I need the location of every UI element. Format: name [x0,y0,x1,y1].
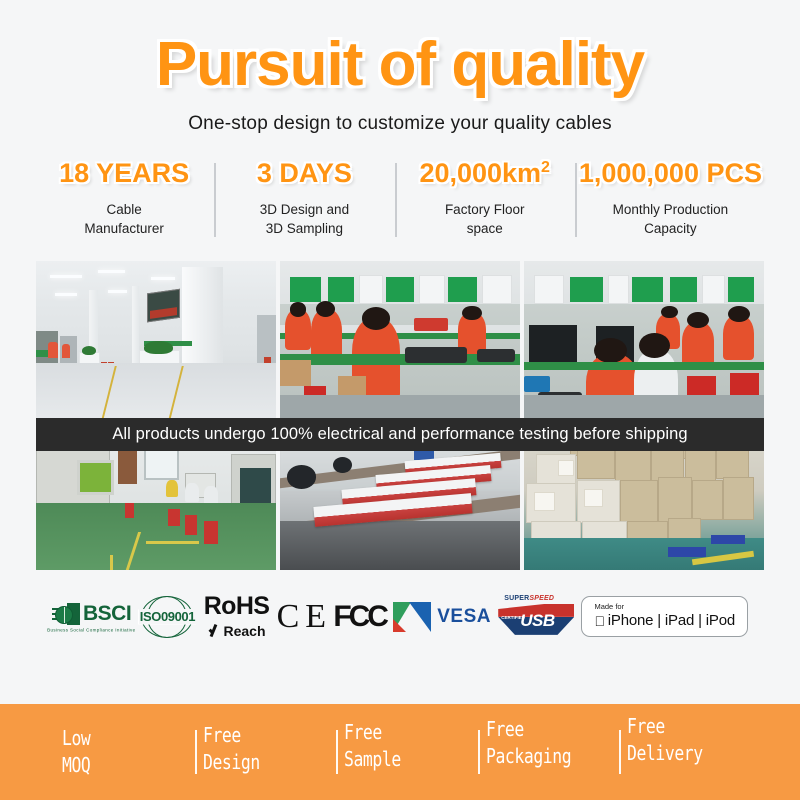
certifications-row: BSCI Business Social Compliance Initiati… [36,586,764,648]
benefit-item-free-delivery: Free Delivery [627,713,754,791]
cert-vesa: VESA [393,602,491,632]
promo-banner-page: Pursuit of quality One-stop design to cu… [0,0,800,800]
assembly-line-workers-right-photo [524,261,764,421]
cert-usb: SUPERSPEED CERTIFIED USB [498,595,574,639]
cert-bsci: BSCI Business Social Compliance Initiati… [52,602,131,632]
benefit-item-free-packaging: Free Packaging [486,716,613,788]
stat-description: Cable Manufacturer [38,200,210,239]
benefit-label: Free Packaging [486,716,571,770]
stat-item-years: 18 YEARS Cable Manufacturer [34,159,214,239]
bsci-label: BSCI [83,602,131,626]
photo-row-top [36,261,764,421]
cert-rohs: RoHS Reach [204,594,270,639]
benefit-item-free-design: Free Design [203,722,330,782]
assembly-line-workers-left-photo [280,261,520,421]
cert-made-for-apple: Made for  iPhone | iPad | iPod [581,596,748,637]
benefit-label: Free Design [203,722,260,776]
photo-gallery: All products undergo 100% electrical and… [36,261,764,570]
rohs-sublabel: Reach [224,624,266,638]
stats-row: 18 YEARS Cable Manufacturer 3 DAYS 3D De… [0,159,800,239]
stat-description: Factory Floor space [399,200,571,239]
bsci-globe-icon [52,603,80,625]
usb-label: USB [520,611,554,631]
testing-banner: All products undergo 100% electrical and… [36,418,764,451]
rohs-label: RoHS [204,594,270,619]
cert-fcc: FCC [333,600,386,634]
mfi-devices-label: iPhone | iPad | iPod [608,613,735,630]
stat-superscript: 2 [541,159,550,176]
vesa-label: VESA [437,606,491,628]
benefit-divider [478,730,480,774]
iso-globe-icon: ISO09001 [138,596,196,638]
checkmark-icon [208,623,222,639]
testing-banner-text: All products undergo 100% electrical and… [112,425,687,444]
benefit-divider [195,730,197,774]
stat-item-floor-space: 20,000km2 Factory Floor space [395,159,575,239]
mfi-top-label: Made for [594,603,735,611]
benefit-divider [336,730,338,774]
ce-mark-icon: CE [277,600,326,634]
stat-description: 3D Design and 3D Sampling [218,200,390,239]
stat-value: 1,000,000 PCS [579,159,762,189]
page-title: Pursuit of quality [0,34,800,96]
cert-ce: CE [277,600,326,634]
benefit-label: Free Sample [344,719,401,773]
benefit-divider [619,730,621,774]
fcc-label: FCC [333,600,386,634]
stat-value: 18 YEARS [38,159,210,189]
stat-description: Monthly Production Capacity [579,200,762,239]
bsci-sublabel: Business Social Compliance Initiative [47,627,135,632]
benefit-label: Low MOQ [62,725,90,779]
benefit-item-low-moq: Low MOQ [62,725,189,779]
stat-item-capacity: 1,000,000 PCS Monthly Production Capacit… [575,159,766,239]
factory-floor-overview-photo [36,261,276,421]
iso-label: ISO09001 [139,609,196,624]
cert-iso9001: ISO09001 [138,596,196,638]
stat-value: 20,000km2 [399,159,571,189]
stat-value: 3 DAYS [218,159,390,189]
header: Pursuit of quality One-stop design to cu… [0,0,800,135]
benefits-bar: Low MOQ Free Design Free Sample Free Pac… [0,704,800,800]
benefit-label: Free Delivery [627,713,703,767]
superspeed-usb-icon: SUPERSPEED CERTIFIED USB [498,595,574,639]
vesa-checkmark-icon [393,602,431,632]
apple-logo-icon:  [594,614,604,628]
benefit-item-free-sample: Free Sample [344,719,471,785]
page-subtitle: One-stop design to customize your qualit… [0,113,800,135]
stat-item-days: 3 DAYS 3D Design and 3D Sampling [214,159,394,239]
